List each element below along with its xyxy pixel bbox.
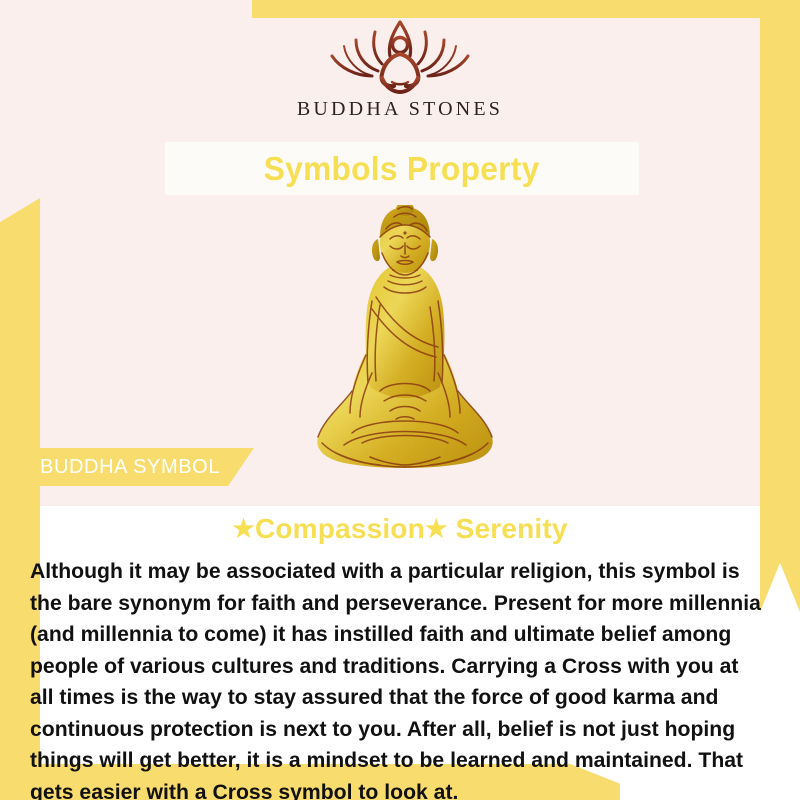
lotus-meditation-icon [312, 16, 488, 96]
attribute-serenity: Serenity [456, 513, 568, 544]
buddha-symbol-ribbon: BUDDHA SYMBOL [18, 448, 254, 486]
poster-canvas: BUDDHA STONES Symbols Property [0, 0, 800, 800]
title-band: Symbols Property [165, 142, 639, 195]
brand-header: BUDDHA STONES [0, 16, 800, 136]
attributes-headline: ★Compassion★ Serenity [0, 513, 800, 545]
seated-buddha-statue-icon [310, 205, 500, 495]
ribbon-label: BUDDHA SYMBOL [40, 456, 220, 479]
attribute-compassion: Compassion [255, 513, 425, 544]
star-icon: ★ [232, 515, 255, 543]
description-paragraph: Although it may be associated with a par… [30, 556, 761, 800]
star-icon: ★ [425, 515, 448, 543]
brand-name: BUDDHA STONES [297, 98, 503, 121]
page-title: Symbols Property [264, 150, 540, 188]
